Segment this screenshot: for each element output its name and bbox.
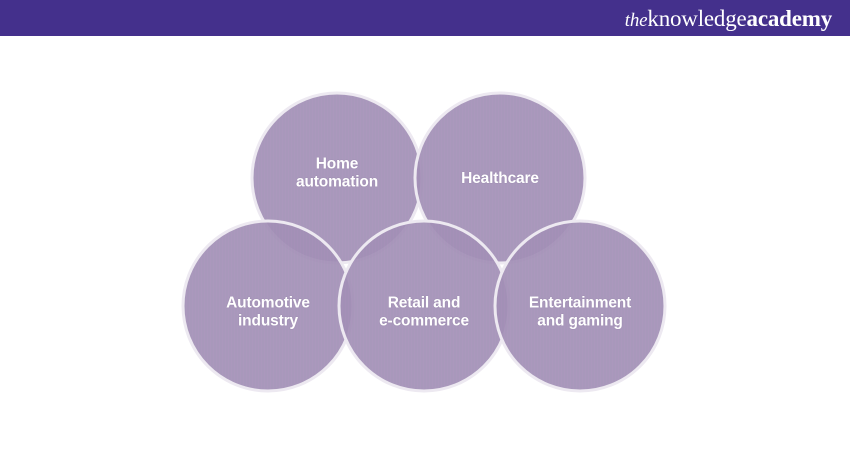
venn-circle-automotive-industry[interactable] bbox=[183, 221, 353, 391]
venn-diagram-svg bbox=[0, 36, 850, 450]
brand-logo: theknowledgeacademy bbox=[625, 7, 832, 30]
venn-diagram: Home automation Healthcare Automotive in… bbox=[0, 36, 850, 450]
brand-logo-the: the bbox=[625, 10, 648, 31]
venn-circle-entertainment-and-gaming[interactable] bbox=[495, 221, 665, 391]
header-bar: theknowledgeacademy bbox=[0, 0, 850, 36]
venn-circle-retail-and-ecommerce[interactable] bbox=[339, 221, 509, 391]
brand-logo-knowledge: knowledge bbox=[647, 6, 746, 31]
brand-logo-academy: academy bbox=[747, 6, 832, 31]
